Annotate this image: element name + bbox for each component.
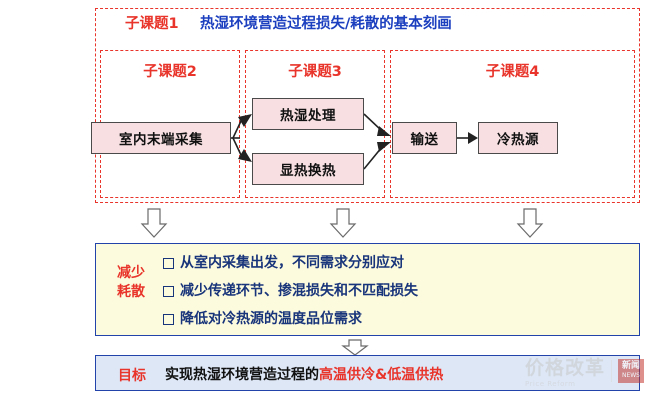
node-cold-heat-source[interactable]: 冷热源 <box>478 122 558 154</box>
watermark-text-group: 价格改革 Price Reform <box>525 353 605 388</box>
list-item: 从室内采集出发，不同需求分别应对 <box>163 249 633 277</box>
watermark: 价格改革 Price Reform 新闻 NEWS <box>525 353 644 388</box>
reduce-dissipation-label-line2: 耗散 <box>100 283 162 302</box>
goal-text-highlight: 高温供冷&低温供热 <box>319 367 443 383</box>
node-indoor-terminal[interactable]: 室内末端采集 <box>91 122 231 154</box>
watermark-title: 价格改革 <box>525 353 605 380</box>
watermark-badge-main: 新闻 <box>622 361 640 371</box>
list-item: 降低对冷热源的温度品位需求 <box>163 305 633 333</box>
bullet-text: 降低对冷热源的温度品位需求 <box>180 305 362 333</box>
goal-text: 实现热湿环境营造过程的高温供冷&低温供热 <box>165 364 443 384</box>
node-heat-humidity-process[interactable]: 热湿处理 <box>252 98 364 130</box>
watermark-badge: 新闻 NEWS <box>618 359 644 383</box>
goal-label: 目标 <box>103 365 161 385</box>
node-sensible-heat-exchange[interactable]: 显热换热 <box>252 153 364 185</box>
node-transport[interactable]: 输送 <box>392 122 457 154</box>
reduce-dissipation-label-line1: 减少 <box>100 264 162 283</box>
diagram-canvas: 子课题1 热湿环境营造过程损失/耗散的基本刻画 子课题2 子课题3 子课题4 <box>0 0 650 400</box>
measure-bullet-list: 从室内采集出发，不同需求分别应对 减少传递环节、掺混损失和不匹配损失 降低对冷热… <box>163 249 633 333</box>
list-item: 减少传递环节、掺混损失和不匹配损失 <box>163 277 633 305</box>
square-bullet-icon <box>163 258 174 269</box>
flow-connectors <box>0 0 650 400</box>
goal-text-prefix: 实现热湿环境营造过程的 <box>165 367 319 383</box>
watermark-subtitle: Price Reform <box>525 380 605 388</box>
square-bullet-icon <box>163 314 174 325</box>
bullet-text: 减少传递环节、掺混损失和不匹配损失 <box>180 277 418 305</box>
watermark-divider <box>611 360 612 382</box>
bullet-text: 从室内采集出发，不同需求分别应对 <box>180 249 404 277</box>
watermark-badge-sub: NEWS <box>622 371 640 381</box>
reduce-dissipation-label: 减少 耗散 <box>100 264 162 302</box>
square-bullet-icon <box>163 286 174 297</box>
